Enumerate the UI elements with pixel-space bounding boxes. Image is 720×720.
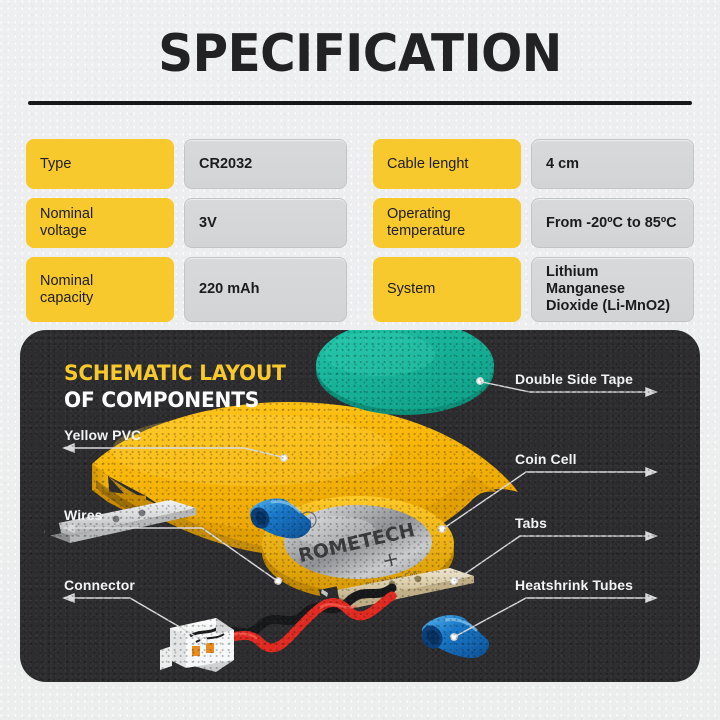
spec-key: Cable lenght — [373, 139, 521, 189]
spec-row: Cable lenght 4 cm — [373, 139, 694, 189]
spec-row: System Lithium Manganese Dioxide (Li-MnO… — [373, 257, 694, 322]
spec-value: 3V — [184, 198, 347, 248]
spec-key: System — [373, 257, 521, 322]
schematic-heading-line1: SCHEMATIC LAYOUT — [64, 360, 286, 387]
double-side-tape-part — [316, 330, 494, 415]
title-divider — [28, 101, 692, 105]
label-wires: Wires — [64, 507, 103, 523]
label-connector: Connector — [64, 577, 135, 593]
schematic-panel: ROMETECH + 3V Lithium Cell Li — [20, 330, 700, 682]
spec-value: From -20ºC to 85ºC — [531, 198, 694, 248]
wires-part — [216, 588, 392, 648]
spec-row: Nominalvoltage 3V — [26, 198, 347, 248]
spec-row: Operatingtemperature From -20ºC to 85ºC — [373, 198, 694, 248]
spec-value: Lithium Manganese Dioxide (Li-MnO2) — [531, 257, 694, 322]
spec-row: Type CR2032 — [26, 139, 347, 189]
specification-table: Type CR2032 Cable lenght 4 cm Nominalvol… — [26, 139, 694, 322]
label-coin-cell: Coin Cell — [515, 451, 577, 467]
connector-part — [160, 618, 234, 672]
spec-key: Type — [26, 139, 174, 189]
schematic-heading: SCHEMATIC LAYOUT OF COMPONENTS — [64, 360, 286, 414]
label-yellow-pvc: Yellow PVC — [64, 427, 141, 443]
label-heatshrink-tubes: Heatshrink Tubes — [515, 577, 633, 593]
spec-value: 220 mAh — [184, 257, 347, 322]
label-tabs: Tabs — [515, 515, 547, 531]
spec-value: 4 cm — [531, 139, 694, 189]
spec-key: Operatingtemperature — [373, 198, 521, 248]
label-double-side-tape: Double Side Tape — [515, 371, 633, 387]
spec-key: Nominalvoltage — [26, 198, 174, 248]
page-title: SPECIFICATION — [25, 24, 695, 84]
spec-value: CR2032 — [184, 139, 347, 189]
spec-key: Nominalcapacity — [26, 257, 174, 322]
spec-row: Nominalcapacity 220 mAh — [26, 257, 347, 322]
schematic-heading-line2: OF COMPONENTS — [64, 387, 286, 414]
